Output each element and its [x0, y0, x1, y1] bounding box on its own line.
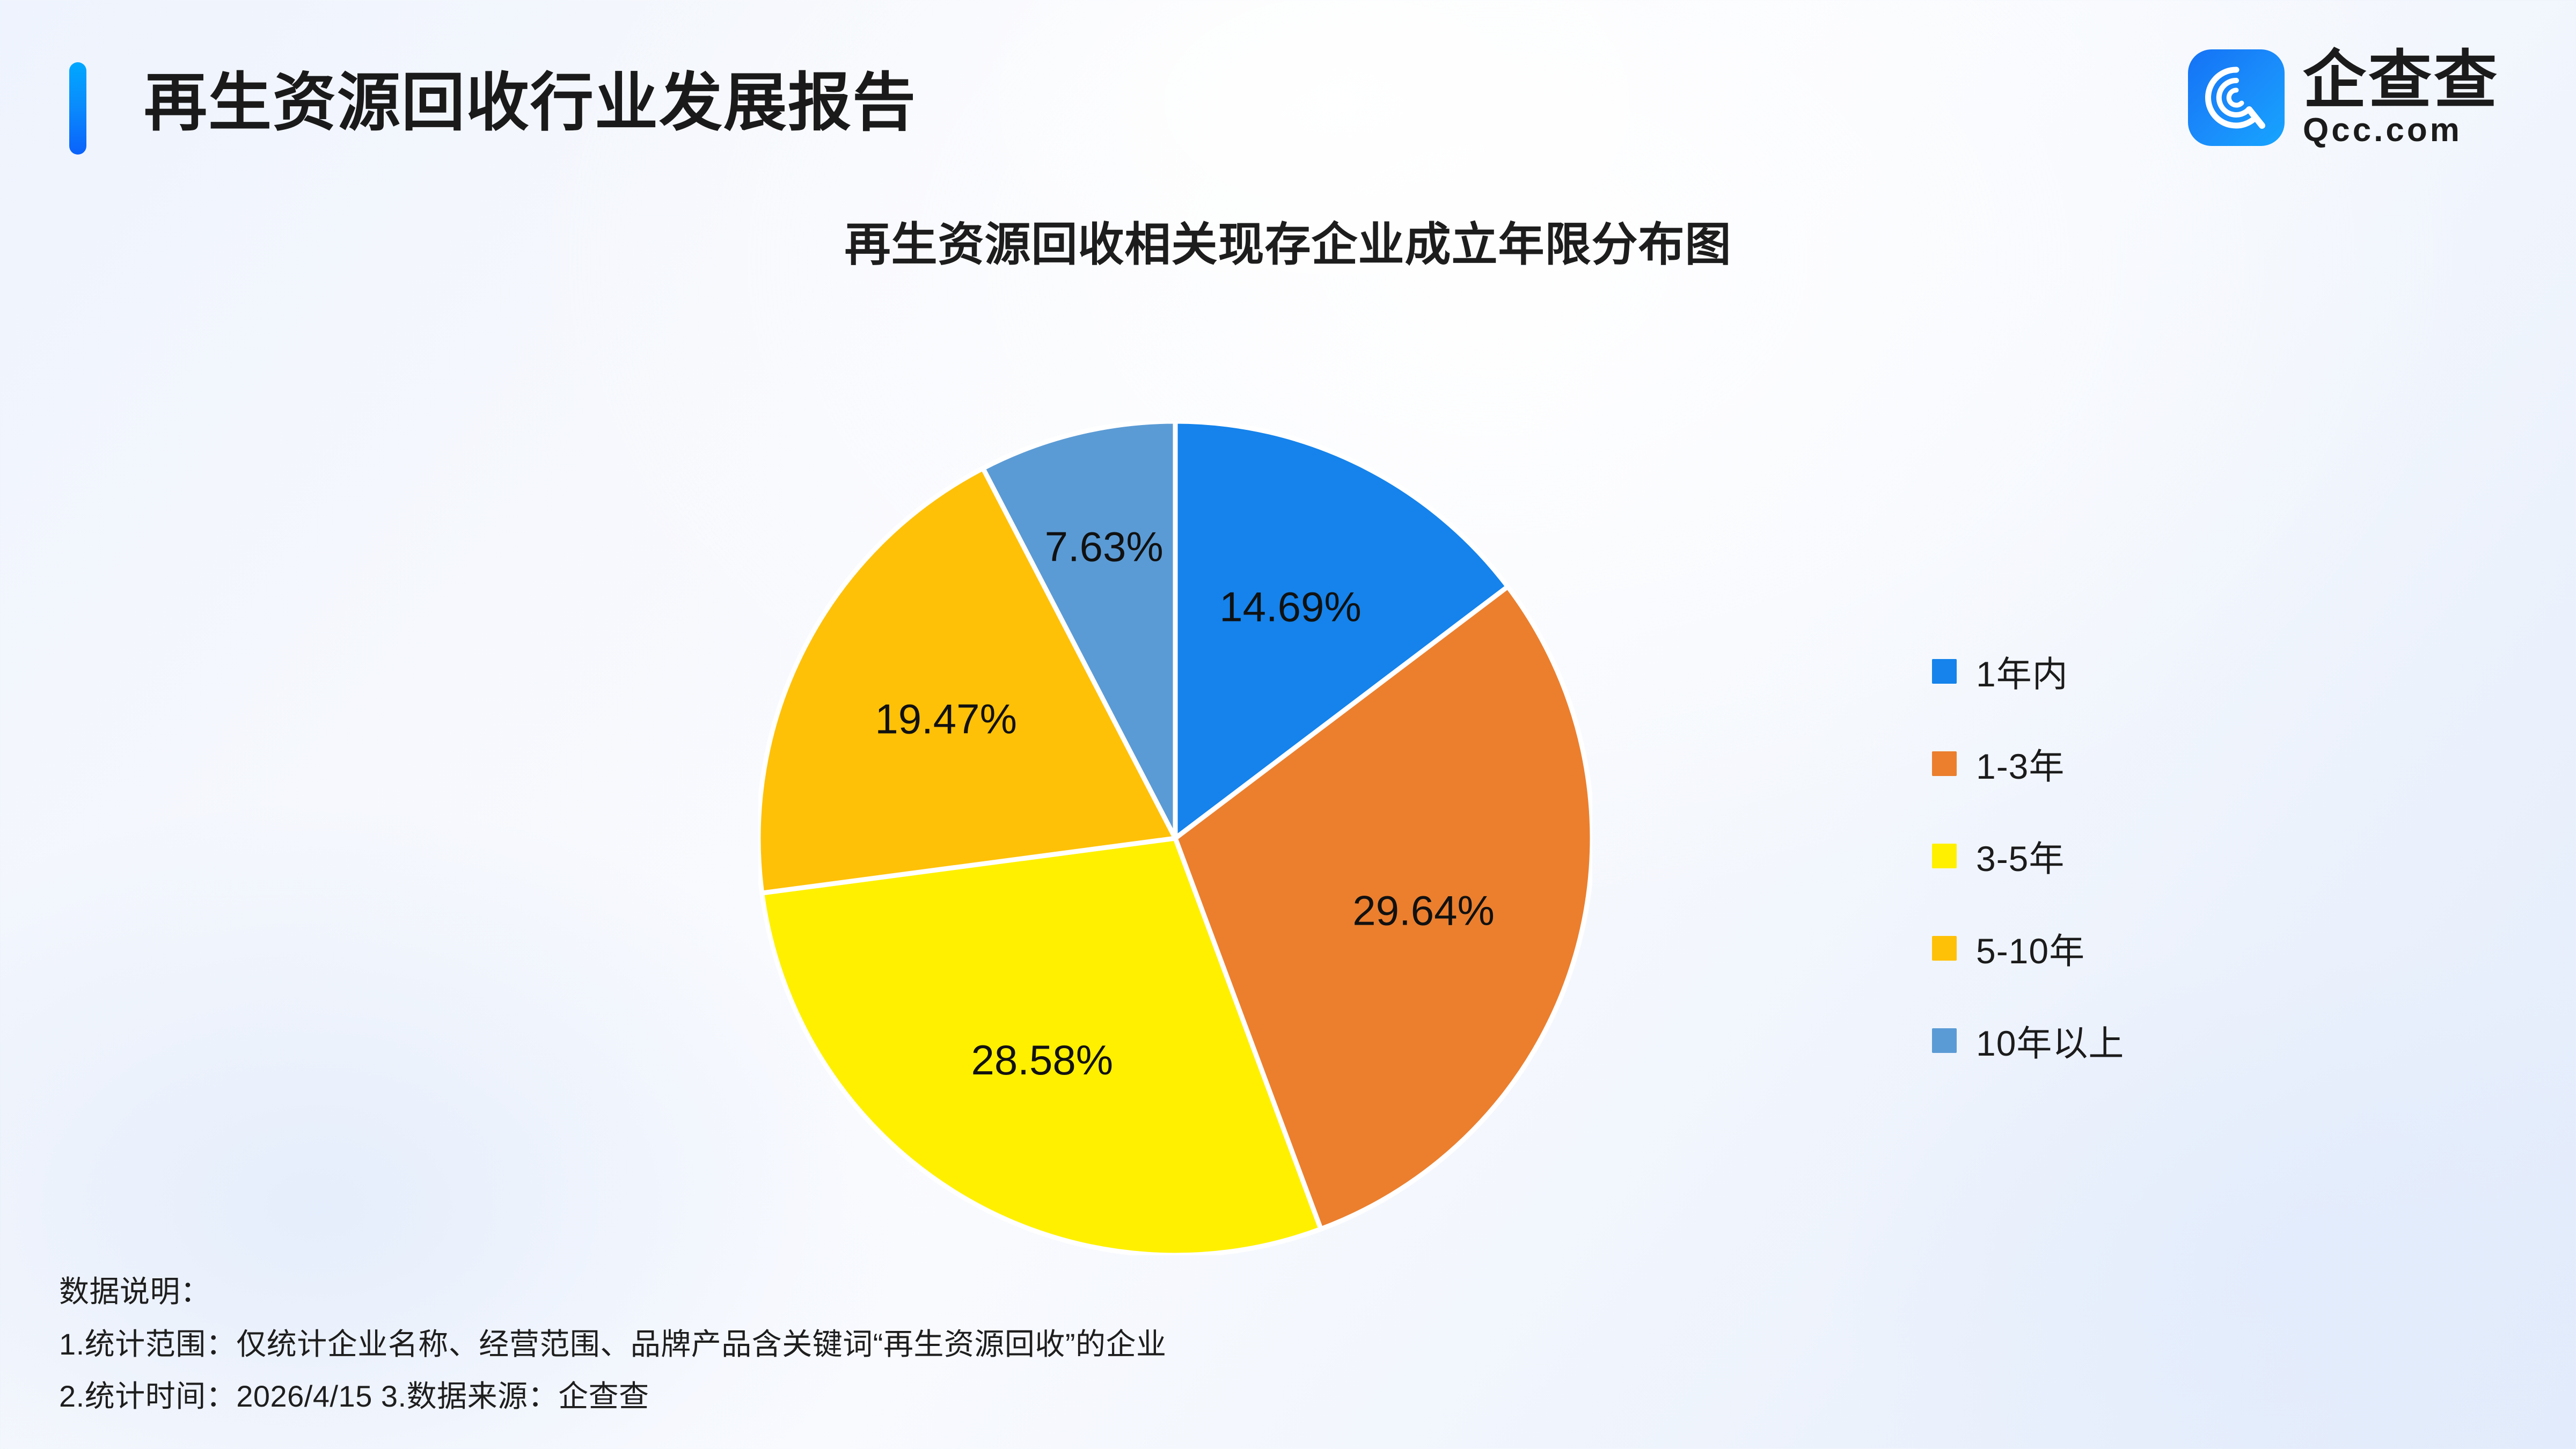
chart-legend: 1年内 1-3年 3-5年 5-10年 10年以上 — [1932, 625, 2124, 1087]
brand-logo[interactable]: 企查查 Qcc.com — [2188, 48, 2499, 147]
legend-item-1-to-3-years[interactable]: 1-3年 — [1932, 718, 2124, 810]
legend-swatch-icon — [1932, 659, 1957, 684]
footer-heading: 数据说明： — [59, 1272, 1167, 1311]
footer-note-scope: 1.统计范围：仅统计企业名称、经营范围、品牌产品含关键词“再生资源回收”的企业 — [59, 1325, 1167, 1364]
chart-title: 再生资源回收相关现存企业成立年限分布图 — [0, 207, 2576, 274]
title-accent-bar — [69, 62, 86, 155]
pie-slice-label: 28.58% — [971, 1036, 1114, 1084]
legend-item-label: 1年内 — [1976, 646, 2068, 697]
legend-item-label: 1-3年 — [1976, 738, 2065, 789]
page-title: 再生资源回收行业发展报告 — [144, 59, 917, 148]
legend-swatch-icon — [1932, 936, 1957, 961]
legend-item-label: 5-10年 — [1976, 923, 2085, 974]
legend-swatch-icon — [1932, 1028, 1957, 1053]
pie-slice-label: 19.47% — [875, 696, 1017, 743]
legend-item-1-year-within[interactable]: 1年内 — [1932, 625, 2124, 718]
footer-notes: 数据说明： 1.统计范围：仅统计企业名称、经营范围、品牌产品含关键词“再生资源回… — [59, 1272, 1167, 1416]
page-header: 再生资源回收行业发展报告 企查查 Qcc.com — [0, 0, 2576, 193]
qcc-spiral-q-icon — [2188, 49, 2285, 146]
footer-note-time-source: 2.统计时间：2026/4/15 3.数据来源：企查查 — [59, 1377, 1167, 1416]
pie-chart: 14.69%29.64%28.58%19.47%7.63% — [758, 421, 1592, 1255]
legend-item-label: 3-5年 — [1976, 830, 2065, 882]
pie-slice-group — [758, 421, 1592, 1255]
brand-name-en: Qcc.com — [2303, 114, 2499, 147]
pie-slice-label: 7.63% — [1045, 523, 1163, 570]
legend-swatch-icon — [1932, 751, 1957, 776]
pie-slice-label: 29.64% — [1352, 887, 1495, 934]
legend-item-label: 10年以上 — [1976, 1015, 2124, 1066]
brand-name-cn: 企查查 — [2303, 48, 2499, 113]
legend-item-over-10-years[interactable]: 10年以上 — [1932, 994, 2124, 1087]
legend-item-3-to-5-years[interactable]: 3-5年 — [1932, 810, 2124, 902]
legend-swatch-icon — [1932, 844, 1957, 868]
pie-slice-label: 14.69% — [1219, 583, 1362, 631]
legend-item-5-to-10-years[interactable]: 5-10年 — [1932, 902, 2124, 994]
pie-chart-svg: 14.69%29.64%28.58%19.47%7.63% — [758, 421, 1592, 1255]
brand-logo-text: 企查查 Qcc.com — [2303, 48, 2499, 147]
